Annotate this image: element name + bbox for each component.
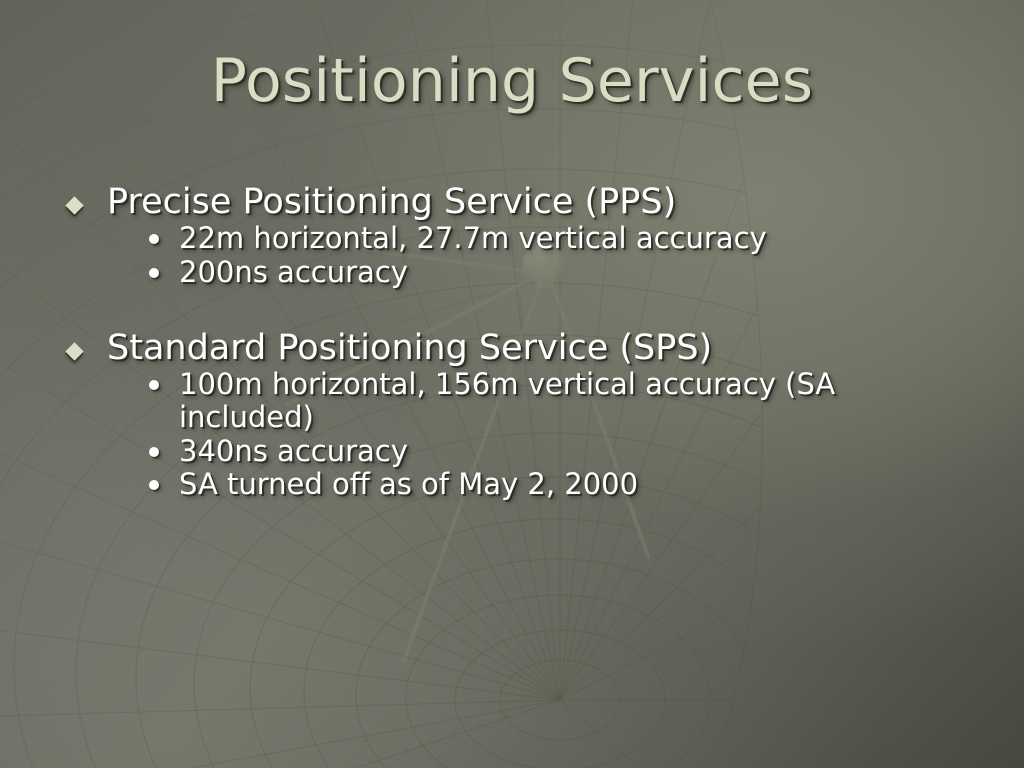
bullet-level1-label: Precise Positioning Service (PPS) [107, 182, 676, 222]
dot-bullet-icon [149, 447, 159, 457]
section-spacer [62, 289, 952, 329]
bullet-level1-sps: Standard Positioning Service (SPS) [62, 329, 952, 368]
bullet-level2-sps-time: 340ns accuracy [147, 435, 952, 468]
bullet-level1-label: Standard Positioning Service (SPS) [107, 328, 712, 368]
slide-content: Precise Positioning Service (PPS) 22m ho… [62, 183, 952, 501]
bullet-level2-label: SA turned off as of May 2, 2000 [179, 467, 638, 501]
bullet-level2-sps-accuracy: 100m horizontal, 156m vertical accuracy … [147, 368, 952, 435]
bullet-level2-pps-accuracy: 22m horizontal, 27.7m vertical accuracy [147, 222, 952, 255]
slide-title: Positioning Services [40, 50, 984, 113]
bullet-level1-pps: Precise Positioning Service (PPS) [62, 183, 952, 222]
presentation-slide: Positioning Services Precise Positioning… [0, 0, 1024, 768]
bullet-level2-sps-sa-off: SA turned off as of May 2, 2000 [147, 468, 952, 501]
dot-bullet-icon [149, 480, 159, 490]
dot-bullet-icon [149, 234, 159, 244]
bullet-level2-label: 22m horizontal, 27.7m vertical accuracy [179, 221, 767, 255]
diamond-bullet-icon [65, 196, 83, 214]
dot-bullet-icon [149, 268, 159, 278]
bullet-level2-pps-time: 200ns accuracy [147, 256, 952, 289]
bullet-level2-label: 200ns accuracy [179, 255, 408, 289]
diamond-bullet-icon [65, 342, 83, 360]
dot-bullet-icon [149, 380, 159, 390]
bullet-level2-label: 340ns accuracy [179, 434, 408, 468]
bullet-level2-label: 100m horizontal, 156m vertical accuracy … [179, 367, 835, 434]
